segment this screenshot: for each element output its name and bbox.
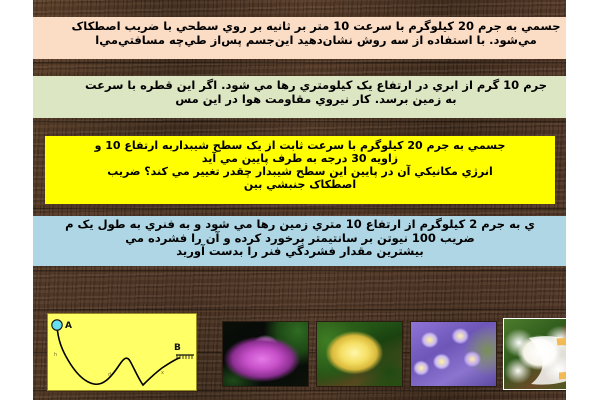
chart-tick-mid: d — [108, 372, 111, 378]
chart-label-b: B — [174, 343, 181, 353]
page-margin-left — [0, 0, 33, 400]
physics-problem-raindrop: جرم 10 گرم از ابري در ارتفاع یک کیلومتري… — [33, 76, 599, 118]
track-path — [57, 326, 179, 385]
physics-problem-spring: ي به جرم 2 کیلوگرم از ارتفاع 10 متري زمی… — [0, 216, 600, 266]
photo-orchid-purple — [222, 321, 309, 387]
chart-label-a: A — [65, 321, 72, 331]
photo-orchid-image — [223, 322, 308, 386]
slide-canvas: جسمي به جرم 20 کیلوگرم با سرعت 10 متر بر… — [0, 0, 600, 400]
ball-marker-a — [52, 320, 62, 330]
plank-seam — [33, 62, 566, 65]
photo-crocus-violet — [410, 321, 497, 387]
plank-seam — [33, 208, 566, 211]
physics-problem-incline: جسمي به جرم 20 کیلوگرم با سرعت ثابت از ی… — [45, 136, 555, 204]
physics-problem-friction: جسمي به جرم 20 کیلوگرم با سرعت 10 متر بر… — [33, 17, 599, 59]
page-margin-right — [566, 0, 600, 400]
photo-canna-image — [317, 322, 402, 386]
plank-seam — [33, 270, 566, 273]
track-curve-svg: A B h d x — [48, 314, 196, 390]
photo-canna-yellow — [316, 321, 403, 387]
plank-seam — [33, 309, 566, 312]
plank-seam — [33, 121, 566, 124]
chart-tick-left: h — [54, 352, 57, 358]
roller-track-diagram: A B h d x — [47, 313, 197, 391]
chart-tick-right: x — [161, 370, 164, 376]
photo-crocus-image — [411, 322, 496, 386]
